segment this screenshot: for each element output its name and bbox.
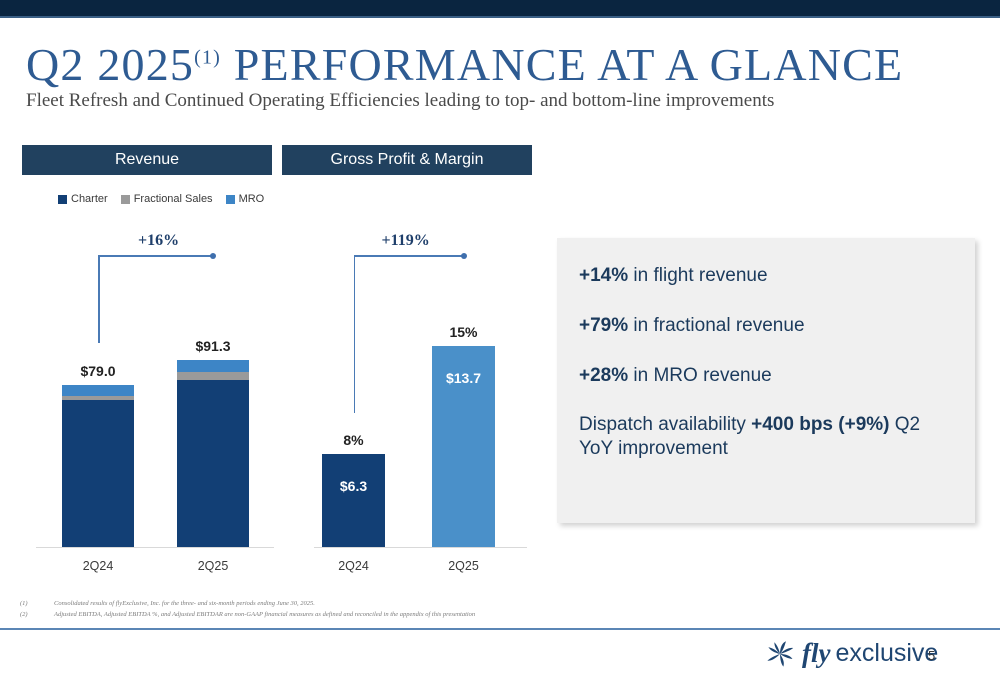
revenue-total-label-2Q24: $79.0	[62, 363, 134, 379]
gross-bar-2Q24	[322, 454, 385, 547]
section-header-gross-profit-label: Gross Profit & Margin	[331, 151, 484, 169]
legend-label-charter: Charter	[71, 193, 108, 205]
top-accent-bar	[0, 0, 1000, 16]
revenue-bar-2Q25	[177, 360, 249, 547]
chart-legend: Charter Fractional Sales MRO	[58, 193, 264, 205]
highlight-item-mro-revenue: +28% in MRO revenue	[579, 364, 953, 388]
highlight-value-flight-revenue: +14%	[579, 265, 628, 286]
highlight-text-fractional-revenue: in fractional revenue	[628, 315, 804, 336]
title-rest: PERFORMANCE AT A GLANCE	[221, 39, 903, 90]
revenue-callout-vertical	[98, 255, 100, 343]
highlights-panel: +14% in flight revenue +79% in fractiona…	[557, 238, 975, 523]
logo-text-exclusive: exclusive	[835, 639, 938, 668]
footnote-row-1: (1) Consolidated results of flyExclusive…	[20, 598, 720, 609]
gross-growth-label: +119%	[382, 232, 430, 250]
gross-value-label-2Q25: $13.7	[432, 370, 495, 386]
revenue-callout-dot	[210, 253, 216, 259]
revenue-callout-horizontal	[98, 255, 213, 257]
swirl-logo-icon	[765, 639, 795, 669]
revenue-bar-2Q24	[62, 385, 134, 547]
highlight-text-flight-revenue: in flight revenue	[628, 265, 767, 286]
footnote-number-2: (2)	[20, 609, 54, 620]
legend-item-fractional-sales: Fractional Sales	[121, 193, 213, 205]
revenue-growth-label: +16%	[138, 232, 179, 250]
gross-category-label-2Q24: 2Q24	[322, 559, 385, 573]
footnote-text-1: Consolidated results of flyExclusive, In…	[54, 598, 315, 609]
gross-margin-label-2Q25: 15%	[432, 324, 495, 340]
legend-item-mro: MRO	[226, 193, 265, 205]
highlight-value-fractional-revenue: +79%	[579, 315, 628, 336]
section-header-gross-profit: Gross Profit & Margin	[282, 145, 532, 175]
highlight-value-dispatch: +400 bps (+9%)	[751, 414, 889, 435]
footnote-number-1: (1)	[20, 598, 54, 609]
revenue-segment-mro-2Q24	[62, 385, 134, 395]
legend-swatch-charter	[58, 195, 67, 204]
logo-text-fly: fly	[802, 638, 830, 669]
gross-margin-label-2Q24: 8%	[322, 432, 385, 448]
brand-logo: flyexclusive	[765, 638, 938, 669]
footer-divider	[0, 628, 1000, 630]
legend-label-fractional-sales: Fractional Sales	[134, 193, 213, 205]
title-main: Q2 2025	[26, 39, 194, 90]
gross-value-label-2Q24: $6.3	[322, 478, 385, 494]
page-subtitle: Fleet Refresh and Continued Operating Ef…	[26, 90, 774, 112]
gross-callout-horizontal	[354, 255, 464, 257]
revenue-chart: +16% $79.0 2Q24 $91.3 2Q25	[22, 225, 282, 575]
highlight-value-mro-revenue: +28%	[579, 365, 628, 386]
gross-category-label-2Q25: 2Q25	[432, 559, 495, 573]
section-header-revenue: Revenue	[22, 145, 272, 175]
top-accent-rule	[0, 16, 1000, 18]
revenue-segment-charter-2Q25	[177, 380, 249, 547]
footnote-row-2: (2) Adjusted EBITDA, Adjusted EBITDA %, …	[20, 609, 720, 620]
page-title: Q2 2025(1) PERFORMANCE AT A GLANCE	[26, 38, 903, 91]
legend-label-mro: MRO	[239, 193, 265, 205]
title-superscript: (1)	[194, 47, 221, 69]
gross-profit-chart: +119% 8% $6.3 2Q24 15% $13.7 2Q25	[300, 225, 535, 575]
revenue-segment-fractional-2Q25	[177, 372, 249, 380]
footnotes: (1) Consolidated results of flyExclusive…	[20, 598, 720, 621]
revenue-category-label-2Q24: 2Q24	[62, 559, 134, 573]
footnote-text-2: Adjusted EBITDA, Adjusted EBITDA %, and …	[54, 609, 475, 620]
revenue-category-label-2Q25: 2Q25	[177, 559, 249, 573]
highlight-item-fractional-revenue: +79% in fractional revenue	[579, 314, 953, 338]
gross-callout-vertical	[354, 255, 356, 413]
legend-swatch-fractional-sales	[121, 195, 130, 204]
highlight-text-mro-revenue: in MRO revenue	[628, 365, 772, 386]
highlight-text-dispatch-pre: Dispatch availability	[579, 414, 751, 435]
revenue-segment-mro-2Q25	[177, 360, 249, 371]
revenue-segment-charter-2Q24	[62, 400, 134, 547]
highlight-item-dispatch-availability: Dispatch availability +400 bps (+9%) Q2 …	[579, 413, 953, 461]
highlight-item-flight-revenue: +14% in flight revenue	[579, 264, 953, 288]
section-header-revenue-label: Revenue	[115, 151, 179, 169]
gross-callout-dot	[461, 253, 467, 259]
revenue-total-label-2Q25: $91.3	[177, 338, 249, 354]
page-number: 5	[928, 648, 935, 663]
legend-swatch-mro	[226, 195, 235, 204]
legend-item-charter: Charter	[58, 193, 108, 205]
